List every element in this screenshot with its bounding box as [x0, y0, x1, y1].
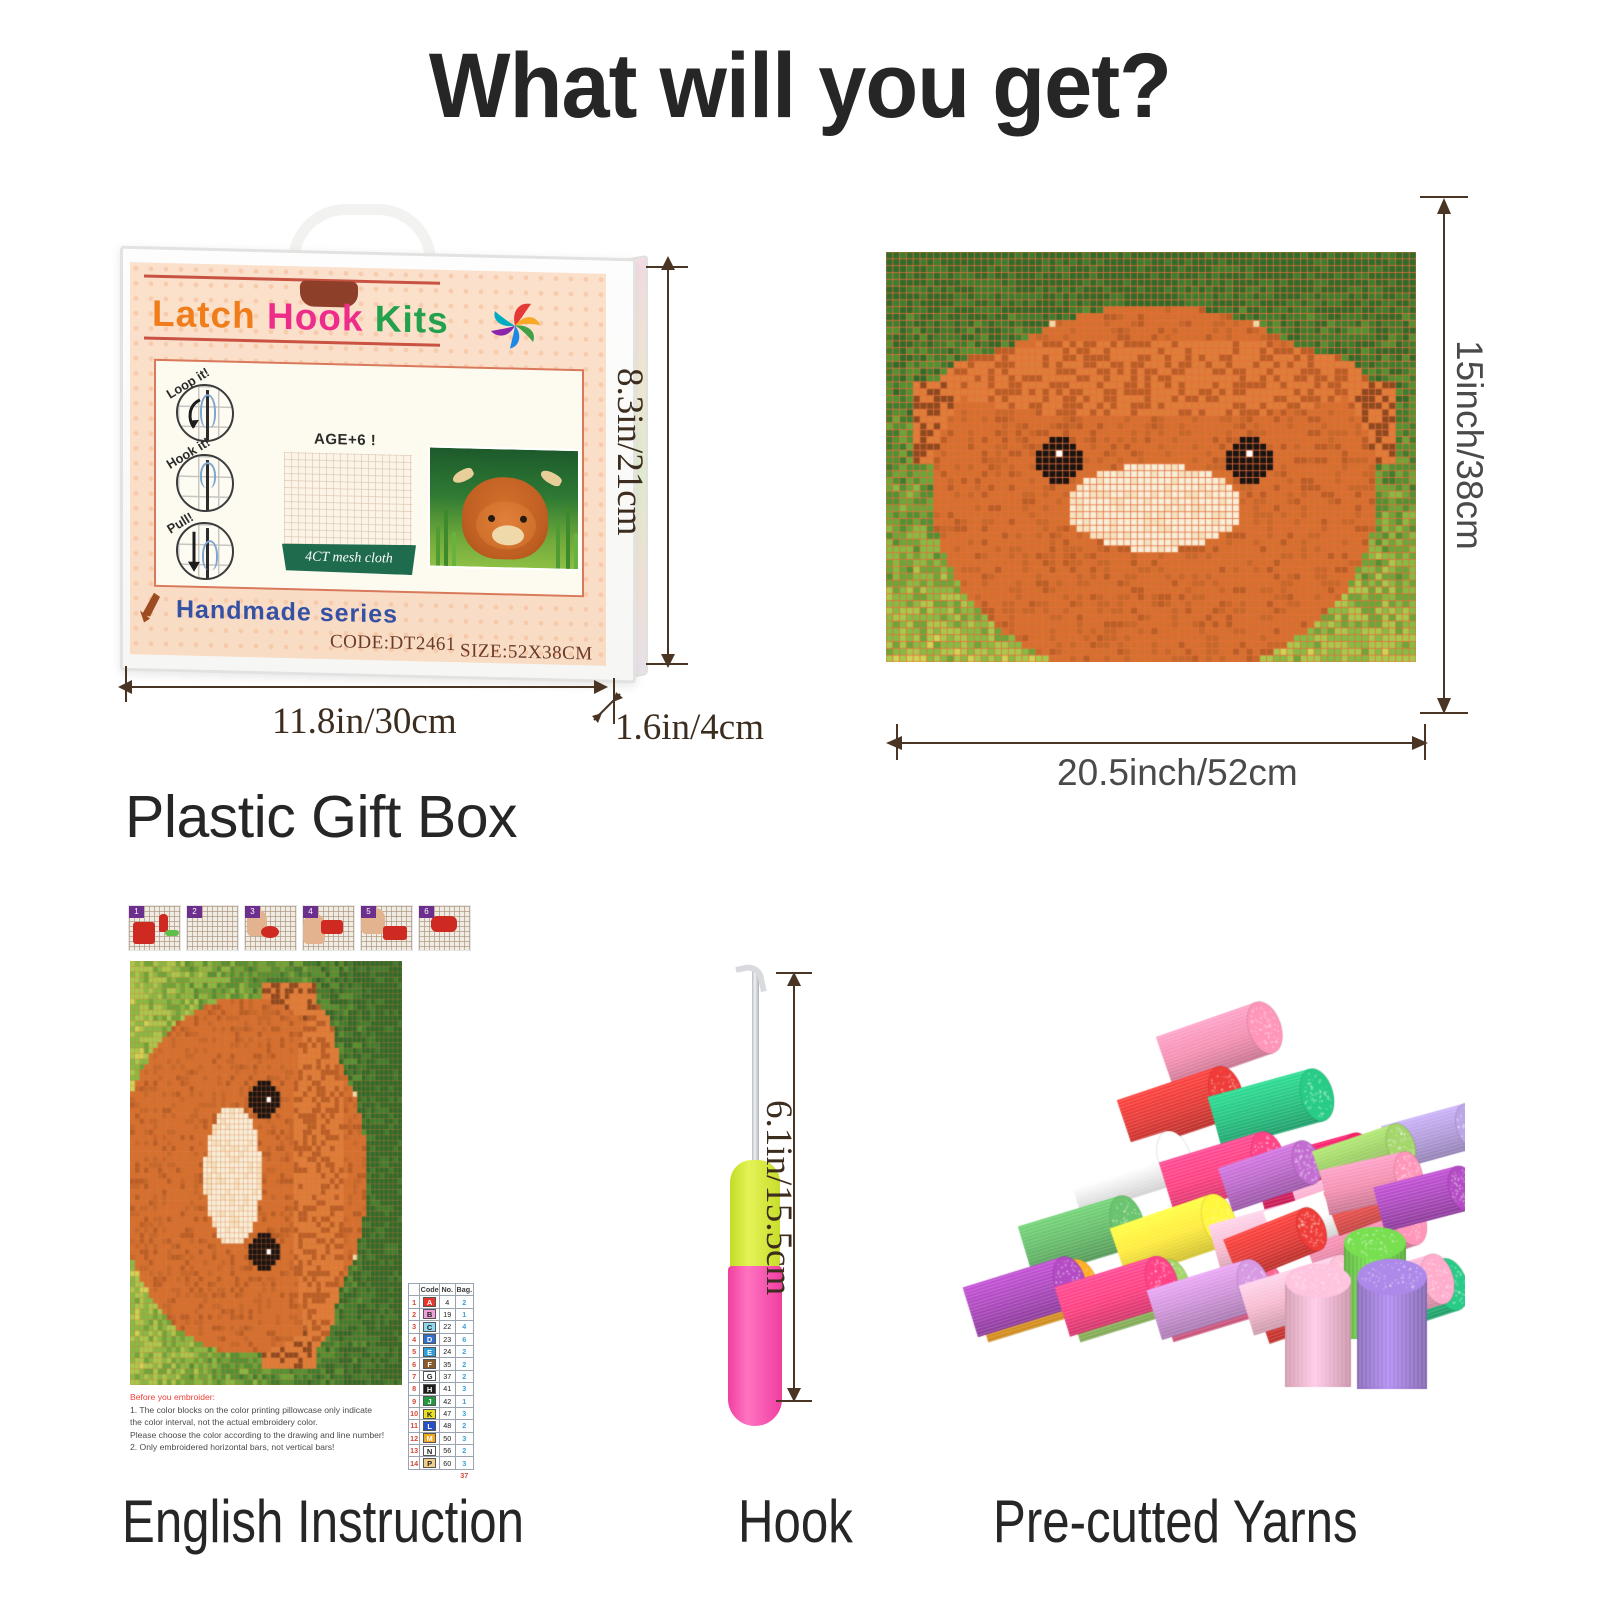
cell-index: 4 [409, 1333, 420, 1345]
cell-number: 22 [439, 1321, 455, 1333]
hook-length-tick-bottom [776, 1400, 812, 1402]
cell-number: 47 [439, 1407, 455, 1419]
box-width-label: 11.8in/30cm [272, 700, 457, 743]
caption-english-instruction: English Instruction [122, 1487, 524, 1556]
cell-total: 37 [455, 1469, 473, 1481]
canvas-width-tick-left [896, 724, 898, 760]
cell-number: 41 [439, 1383, 455, 1395]
cell-bag: 4 [455, 1321, 473, 1333]
canvas-height-arrow-top-icon [1435, 198, 1453, 216]
cell-index: 5 [409, 1345, 420, 1357]
printed-mesh-canvas [886, 252, 1416, 662]
table-total-row: 37 [409, 1469, 474, 1481]
color-swatch: B [423, 1309, 436, 1319]
box-height-tick-top [646, 266, 688, 268]
canvas-height-label: 15inch/38cm [1448, 340, 1490, 550]
step-yarn-3 [202, 540, 218, 570]
cell-bag: 2 [455, 1370, 473, 1382]
cow-eye-left [488, 515, 495, 522]
cow-muzzle [492, 525, 524, 546]
cell-index: 10 [409, 1407, 420, 1419]
cell-bag: 2 [455, 1420, 473, 1432]
age-recommendation: AGE+6 ! [314, 431, 376, 450]
pinwheel-logo-icon [482, 295, 548, 357]
brand-word-kits: Kits [375, 298, 449, 341]
step-yarn-2 [200, 462, 216, 488]
cow-horn-left [451, 466, 476, 486]
brand-title: Latch Hook Kits [152, 293, 482, 349]
gift-box-illustration: Latch Hook Kits Loop it! [112, 196, 652, 696]
cell-code: G [420, 1370, 440, 1382]
product-code-label: CODE:DT2461 [330, 631, 456, 656]
cell-index: 13 [409, 1445, 420, 1457]
note-heading: Before you embroider: [130, 1391, 406, 1404]
cell-code: C [420, 1321, 440, 1333]
yarn-color-table: Code No. Bag. 1A422B1913C2244D2365E2426F… [408, 1283, 474, 1482]
canvas-height-dimline [1443, 212, 1445, 702]
infographic-page: What will you get? Latch Hook Kits [0, 0, 1600, 1600]
th-code: Code [420, 1284, 440, 1296]
thumb-badge-3: 3 [245, 906, 260, 918]
box-height-arrow-bottom-icon [659, 652, 677, 668]
color-swatch: P [423, 1458, 436, 1468]
mesh-cloth-swatch [284, 452, 412, 555]
canvas-width-label: 20.5inch/52cm [1057, 752, 1298, 794]
canvas-width-arrow-left-icon [886, 734, 904, 752]
cell-number: 48 [439, 1420, 455, 1432]
cell-number: 56 [439, 1445, 455, 1457]
th-bag: Bag. [455, 1284, 473, 1296]
box-width-tick-left [125, 666, 127, 702]
table-row: 8H413 [409, 1383, 474, 1395]
box-height-label: 8.3in/21cm [608, 368, 651, 536]
step-arrow-3-icon [186, 530, 202, 576]
cell-bag: 2 [455, 1358, 473, 1370]
thumbnail-step-4: 4 [302, 905, 355, 951]
table-row: 5E242 [409, 1345, 474, 1357]
table-row: 1A42 [409, 1296, 474, 1308]
cow-horn-right [539, 468, 564, 488]
canvas-height-tick-top [1420, 196, 1468, 198]
cell-bag: 3 [455, 1407, 473, 1419]
page-title: What will you get? [48, 34, 1552, 139]
color-swatch: N [423, 1446, 436, 1456]
step-circle-pull [176, 521, 234, 580]
thumb-badge-1: 1 [129, 906, 144, 918]
cell-index: 12 [409, 1432, 420, 1444]
canvas-height-tick-bottom [1420, 712, 1468, 714]
table-row: 6F352 [409, 1358, 474, 1370]
thumb-badge-5: 5 [361, 906, 376, 918]
caption-pre-cutted-yarns: Pre-cutted Yarns [993, 1487, 1358, 1556]
thumbnail-step-2: 2 [186, 905, 239, 951]
product-size-label: SIZE:52X38CM [460, 640, 593, 665]
cell-number: 24 [439, 1345, 455, 1357]
instruction-color-chart [130, 961, 402, 1385]
cell-number: 4 [439, 1296, 455, 1308]
handmade-arrow-icon [136, 584, 180, 625]
cell-number: 35 [439, 1358, 455, 1370]
cell-bag: 2 [455, 1296, 473, 1308]
color-swatch: D [423, 1334, 436, 1344]
cell-bag: 2 [455, 1345, 473, 1357]
thumbnail-step-1: 1 [128, 905, 181, 951]
cell-code: F [420, 1358, 440, 1370]
color-swatch: F [423, 1359, 436, 1369]
cell-code: B [420, 1308, 440, 1320]
step-arrow-1-icon [184, 398, 206, 433]
box-depth-label: 1.6in/4cm [615, 706, 764, 749]
thumb-badge-6: 6 [419, 906, 434, 918]
cell-code: M [420, 1432, 440, 1444]
cell-bag: 1 [455, 1395, 473, 1407]
thumbnail-step-5: 5 [360, 905, 413, 951]
table-row: 2B191 [409, 1308, 474, 1320]
thumbnail-step-3: 3 [244, 905, 297, 951]
cell-code: K [420, 1407, 440, 1419]
rule-top [144, 275, 440, 285]
instruction-panel: Loop it! Hook it! [154, 359, 584, 598]
cell-index: 8 [409, 1383, 420, 1395]
mesh-canvas-art [886, 252, 1416, 662]
brand-word-latch: Latch [152, 293, 256, 337]
pre-cutted-yarn-bundles [960, 925, 1465, 1395]
cell-bag: 1 [455, 1308, 473, 1320]
cell-index: 7 [409, 1370, 420, 1382]
before-you-embroider-note: Before you embroider: 1. The color block… [130, 1391, 406, 1454]
cell-code: N [420, 1445, 440, 1457]
cell-bag: 3 [455, 1457, 473, 1469]
hook-length-tick-top [776, 972, 812, 974]
english-instruction-sheet: 1 2 3 4 5 [126, 905, 474, 1470]
hook-length-arrow-top-icon [786, 972, 802, 988]
table-row: 13N562 [409, 1445, 474, 1457]
box-height-dimline [667, 268, 669, 660]
color-swatch: C [423, 1322, 436, 1332]
cell-number: 19 [439, 1308, 455, 1320]
th-no: No. [439, 1284, 455, 1296]
cell-code: P [420, 1457, 440, 1469]
canvas-width-tick-right [1424, 724, 1426, 760]
cell-index: 1 [409, 1296, 420, 1308]
box-height-tick-bottom [646, 663, 688, 665]
caption-hook: Hook [738, 1487, 853, 1556]
table-row: 9J421 [409, 1395, 474, 1407]
cell-code: J [420, 1395, 440, 1407]
color-swatch: J [423, 1396, 436, 1406]
hook-barb-tip-icon [735, 962, 767, 997]
mesh-cloth-banner: 4CT mesh cloth [282, 542, 416, 575]
table-row: 10K473 [409, 1407, 474, 1419]
cell-number: 60 [439, 1457, 455, 1469]
cell-index: 14 [409, 1457, 420, 1469]
cell-code: L [420, 1420, 440, 1432]
product-photo-cow-rug [428, 445, 580, 571]
thumb-badge-4: 4 [303, 906, 318, 918]
color-swatch: L [423, 1421, 436, 1431]
table-row: 11L482 [409, 1420, 474, 1432]
th-index [409, 1284, 420, 1296]
step-thumbnail-strip: 1 2 3 4 5 [128, 905, 474, 955]
note-line-4: 2. Only embroidered horizontal bars, not… [130, 1441, 406, 1454]
cell-code: D [420, 1333, 440, 1345]
table-row: 3C224 [409, 1321, 474, 1333]
cell-number: 50 [439, 1432, 455, 1444]
cell-index: 3 [409, 1321, 420, 1333]
color-swatch: G [423, 1371, 436, 1381]
cell-number: 37 [439, 1370, 455, 1382]
cell-index: 11 [409, 1420, 420, 1432]
table-header-row: Code No. Bag. [409, 1284, 474, 1296]
box-front-artwork: Latch Hook Kits Loop it! [130, 262, 606, 666]
cell-number: 42 [439, 1395, 455, 1407]
cell-bag: 6 [455, 1333, 473, 1345]
note-line-1: 1. The color blocks on the color printin… [130, 1404, 406, 1417]
box-width-dimline [128, 686, 598, 688]
handmade-series-label: Handmade series [176, 595, 398, 629]
color-swatch: E [423, 1347, 436, 1357]
cell-index: 9 [409, 1395, 420, 1407]
cell-index: 2 [409, 1308, 420, 1320]
cell-code: H [420, 1383, 440, 1395]
cell-code: E [420, 1345, 440, 1357]
table-row: 4D236 [409, 1333, 474, 1345]
cell-index: 6 [409, 1358, 420, 1370]
cell-number: 23 [439, 1333, 455, 1345]
table-row: 12M503 [409, 1432, 474, 1444]
hook-length-label: 6.1in/15.5cm [757, 1100, 800, 1295]
cell-code: A [420, 1296, 440, 1308]
brand-word-hook: Hook [267, 296, 364, 339]
thumb-badge-2: 2 [187, 906, 202, 918]
table-row: 14P603 [409, 1457, 474, 1469]
color-swatch: A [423, 1297, 436, 1307]
caption-plastic-gift-box: Plastic Gift Box [125, 783, 517, 851]
thumbnail-step-6: 6 [418, 905, 471, 951]
yarn-pile-art [960, 925, 1465, 1395]
cell-bag: 3 [455, 1383, 473, 1395]
color-swatch: H [423, 1384, 436, 1394]
color-swatch: M [423, 1433, 436, 1443]
step-circle-hook [176, 453, 234, 512]
cell-bag: 3 [455, 1432, 473, 1444]
box-height-arrow-top-icon [659, 256, 677, 272]
table-row: 7G372 [409, 1370, 474, 1382]
cell-bag: 2 [455, 1445, 473, 1457]
note-line-2: the color interval, not the actual embro… [130, 1416, 406, 1429]
color-swatch: K [423, 1409, 436, 1419]
note-line-3: Please choose the color according to the… [130, 1429, 406, 1442]
cow-eye-right [520, 516, 527, 523]
canvas-width-dimline [898, 742, 1418, 744]
